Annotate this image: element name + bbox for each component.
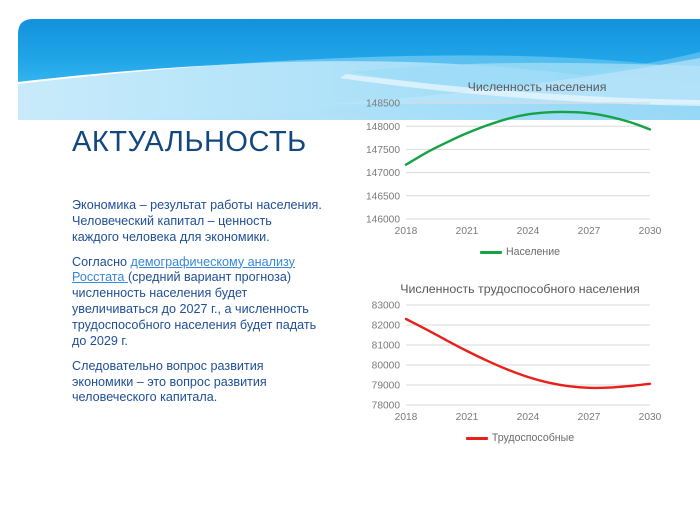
x-axis-tick-label: 2024 <box>517 226 540 237</box>
series-line <box>406 112 650 165</box>
paragraph-1: Экономика – результат работы населения. … <box>72 198 322 246</box>
y-axis-tick-label: 148500 <box>366 99 400 110</box>
x-axis-tick-label: 2027 <box>578 226 601 237</box>
chart-population-title: Численность населения <box>348 78 692 95</box>
legend-swatch-working-age <box>466 437 488 440</box>
chart-working-age-legend: Трудоспособные <box>348 432 692 444</box>
chart-population: Численность населения 148500148000147500… <box>348 78 692 270</box>
presentation-slide: АКТУАЛЬНОСТЬ Экономика – результат работ… <box>0 0 700 525</box>
legend-swatch-population <box>480 251 502 254</box>
body-text-run: Следовательно вопрос развития экономики … <box>72 359 267 405</box>
y-axis-tick-label: 146500 <box>366 192 400 203</box>
y-axis-tick-label: 147500 <box>366 145 400 156</box>
series-line <box>406 319 650 388</box>
y-axis-tick-label: 147000 <box>366 168 400 179</box>
paragraph-2: Согласно демографическому анализу Росста… <box>72 255 322 350</box>
chart-working-age-plot: 8300082000810008000079000780002018202120… <box>348 297 692 429</box>
x-axis-tick-label: 2027 <box>578 412 601 423</box>
chart-working-age-title: Численность трудоспособного населения <box>348 280 692 297</box>
body-text-column: Экономика – результат работы населения. … <box>72 198 322 415</box>
x-axis-tick-label: 2030 <box>639 412 662 423</box>
x-axis-tick-label: 2018 <box>395 412 418 423</box>
x-axis-tick-label: 2021 <box>456 226 479 237</box>
y-axis-tick-label: 146000 <box>366 215 400 226</box>
x-axis-tick-label: 2021 <box>456 412 479 423</box>
y-axis-tick-label: 78000 <box>372 401 401 412</box>
y-axis-tick-label: 148000 <box>366 122 400 133</box>
body-text-run: Согласно <box>72 255 131 269</box>
legend-label-working-age: Трудоспособные <box>492 432 574 444</box>
chart-population-plot: 1485001480001475001470001465001460002018… <box>348 95 692 243</box>
legend-label-population: Население <box>506 246 560 258</box>
x-axis-tick-label: 2024 <box>517 412 540 423</box>
y-axis-tick-label: 82000 <box>372 321 401 332</box>
y-axis-tick-label: 80000 <box>372 361 401 372</box>
chart-working-age: Численность трудоспособного населения 83… <box>348 280 692 478</box>
paragraph-3: Следовательно вопрос развития экономики … <box>72 359 322 407</box>
body-text-run: Экономика – результат работы населения. … <box>72 198 322 244</box>
y-axis-tick-label: 83000 <box>372 301 401 312</box>
page-title: АКТУАЛЬНОСТЬ <box>72 126 307 159</box>
x-axis-tick-label: 2018 <box>395 226 418 237</box>
y-axis-tick-label: 81000 <box>372 341 401 352</box>
chart-population-legend: Население <box>348 246 692 258</box>
y-axis-tick-label: 79000 <box>372 381 401 392</box>
x-axis-tick-label: 2030 <box>639 226 662 237</box>
